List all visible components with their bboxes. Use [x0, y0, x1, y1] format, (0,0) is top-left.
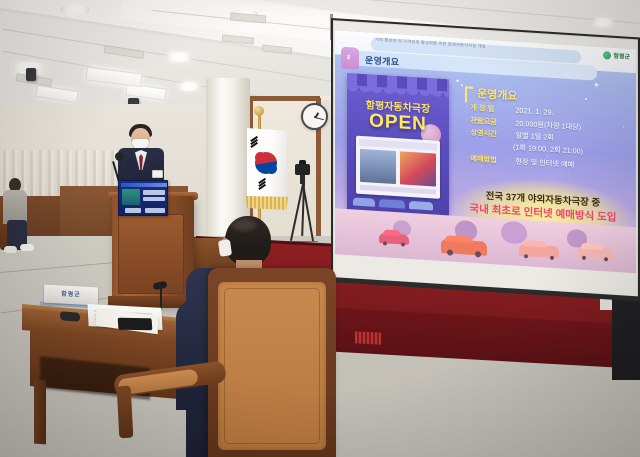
sign-text-chip	[125, 208, 141, 213]
chair-pad-stitching	[224, 288, 320, 444]
taeguk-symbol	[255, 152, 277, 174]
sign-text-chip	[143, 190, 165, 195]
bullet-value: 일별 1일 2회	[515, 131, 553, 142]
ceiling-downlight	[60, 4, 90, 15]
ceiling-downlight	[592, 18, 614, 27]
bullet-dot: ·	[466, 128, 468, 137]
floor-microphone-pole	[160, 288, 162, 310]
desk-dark-object	[118, 318, 153, 331]
desk-small-object	[60, 311, 80, 322]
clock-minute-hand	[314, 117, 323, 120]
audience-torso	[3, 190, 27, 224]
car-wheel	[524, 254, 528, 258]
slide-poster-graphic: 함평자동차극장 OPEN	[347, 73, 449, 231]
face-mask-strap-icon	[218, 239, 232, 257]
car-wheel	[447, 249, 453, 255]
car-wheel	[383, 241, 387, 245]
projection-screen: 지역 활성화 및 지역관광 활성화를 위한 함평자동차극장 개장 함평군 III…	[331, 18, 640, 307]
car-shape	[379, 233, 409, 245]
movie-thumbnail	[360, 149, 396, 184]
sign-text-chip	[143, 197, 165, 201]
tree-shape	[501, 221, 527, 245]
car-shape	[409, 201, 433, 211]
clock-center-dot	[314, 116, 316, 118]
presentation-slide: 지역 활성화 및 지역관광 활성화를 위한 함평자동차극장 개장 함평군 III…	[335, 30, 636, 273]
bullet-dot: ·	[466, 115, 468, 124]
tripod-head	[300, 175, 305, 184]
bullet-label: 예매방법	[470, 154, 510, 166]
speaker-name-badge	[152, 170, 163, 178]
car-shape	[353, 197, 375, 206]
wall-clock-icon	[301, 103, 328, 130]
car-shape	[379, 199, 405, 209]
ceiling-speaker-icon	[26, 68, 36, 81]
chair-armrest-post	[117, 386, 134, 439]
ceiling-panel-light	[85, 67, 142, 88]
ceiling-downlight	[178, 82, 200, 91]
sign-graphic	[122, 189, 140, 205]
audience-shoe	[4, 246, 17, 253]
car-shape	[441, 239, 487, 256]
bullet-value: 20,000원(차량 1대당)	[515, 118, 581, 131]
star-dot	[461, 84, 463, 86]
bullet-dot: ·	[466, 153, 468, 162]
info-heading: 운영개요	[477, 85, 517, 104]
sparkle-icon: ✦	[593, 80, 600, 89]
car-shape	[577, 246, 613, 259]
ceiling-panel-light	[35, 85, 78, 103]
bullet-value: 2021. 1. 29.	[515, 106, 553, 117]
podium-front-panel	[118, 214, 184, 294]
ceiling-downlight	[166, 52, 192, 62]
flag-finial	[254, 106, 264, 116]
car-wheel	[604, 257, 608, 261]
attendee-hair-highlight	[232, 219, 256, 231]
car-shape	[519, 244, 559, 259]
desk-nameplate: 함평군	[44, 285, 98, 306]
audience-shoe	[20, 244, 34, 251]
sparkle-icon: ✦	[455, 78, 460, 85]
car-wheel	[401, 242, 405, 246]
tripod-spreader	[288, 216, 318, 242]
car-wheel	[582, 256, 586, 260]
star-dot	[585, 98, 587, 100]
korean-flag-icon	[247, 128, 287, 200]
car-wheel	[475, 251, 481, 257]
bullet-label: 관람요금	[470, 115, 510, 127]
ceiling-vent	[104, 45, 145, 59]
podium-event-sign	[118, 180, 168, 216]
car-wheel	[550, 256, 554, 260]
bullet-label: 상영시간	[470, 128, 510, 140]
flag-fringe	[246, 196, 288, 210]
bullet-label: 개 장 일	[470, 103, 510, 115]
video-camera-icon	[295, 164, 310, 175]
nameplate-text: 함평군	[44, 288, 98, 300]
sign-text-chip	[145, 208, 165, 213]
bullet-value: 현장 및 인터넷 예매	[515, 156, 574, 169]
movie-thumbnail	[400, 151, 436, 186]
sign-title-bar	[121, 183, 167, 187]
microphone-icon	[115, 152, 124, 161]
desk-leg	[34, 380, 46, 445]
info-bullet-list: · 개 장 일 2021. 1. 29. · 관람요금 20,000원(차량 1…	[466, 102, 634, 176]
bullet-dot: ·	[466, 102, 468, 111]
stage-floor-vent	[355, 331, 381, 344]
info-bracket	[465, 86, 473, 103]
photo-scene: 초의 LC(주) 지역 활성화 및 지역관광 활성화를 위한 함평자동차극장 개…	[0, 0, 640, 457]
